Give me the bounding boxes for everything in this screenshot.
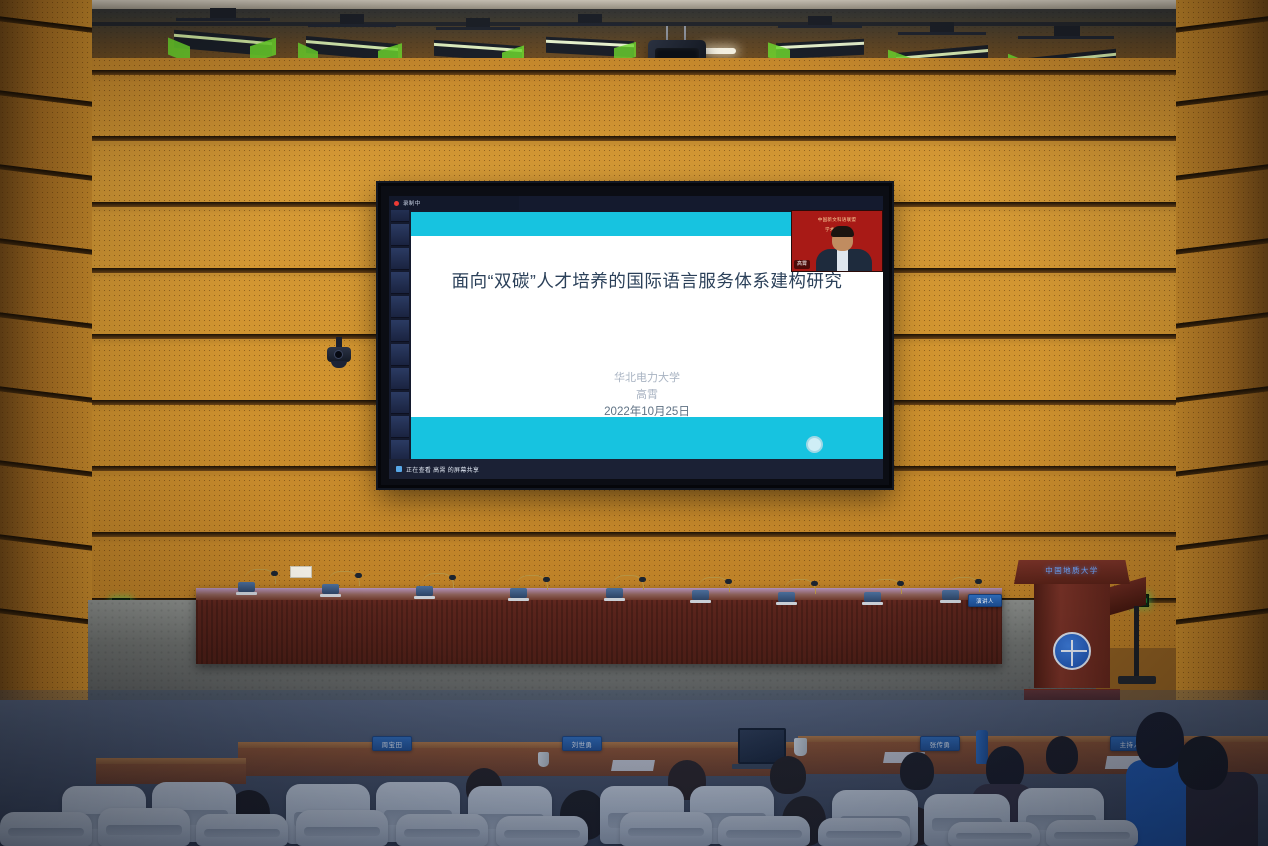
paper-cup xyxy=(538,752,549,767)
screen-share-bar: 正在查看 高霄 的屏幕共享 xyxy=(389,459,883,479)
audience-seat xyxy=(296,810,388,846)
presentation-screen[interactable]: 面向“双碳”人才培养的国际语言服务体系建构研究 华北电力大学 高霄 2022年1… xyxy=(378,183,892,488)
lectern: 中国地质大学 xyxy=(1022,560,1122,706)
gooseneck-microphone xyxy=(604,572,644,598)
camera-lens-icon xyxy=(334,350,343,359)
right-wall xyxy=(1176,0,1268,760)
audience-seat xyxy=(948,822,1040,846)
gooseneck-microphone xyxy=(414,570,454,596)
audience-seat xyxy=(0,812,92,846)
audience-seat xyxy=(718,816,810,846)
slide-decoration-dot xyxy=(806,436,823,453)
audience-seat xyxy=(620,812,712,846)
nameplate-label: 周宝田 xyxy=(382,739,403,749)
water-bottle xyxy=(976,730,988,764)
desk-nameplate: 周宝田 xyxy=(372,736,412,751)
thumbnail-speaker-label: 高霄 xyxy=(794,260,810,269)
wall-paper-card xyxy=(290,566,312,578)
gooseneck-microphone xyxy=(862,576,902,602)
nameplate-label: 张传勇 xyxy=(930,739,951,749)
audience-seat xyxy=(98,808,190,846)
university-emblem-icon xyxy=(1053,632,1091,670)
audience-head xyxy=(900,752,934,790)
gooseneck-microphone xyxy=(236,566,276,592)
slide-organization: 华北电力大学 xyxy=(411,370,883,387)
slide-presenter: 高霄 xyxy=(411,387,883,404)
audience-seat xyxy=(396,814,488,846)
desk-nameplate: 刘世勇 xyxy=(562,736,602,751)
gooseneck-microphone xyxy=(508,572,548,598)
recording-indicator: 录制中 xyxy=(389,196,519,210)
audience-seat xyxy=(818,818,910,846)
audience-seat xyxy=(496,816,588,846)
audience-desk xyxy=(96,758,246,784)
stage-nameplate: 演讲人 xyxy=(968,594,1002,607)
audience-seat xyxy=(196,814,288,846)
thumbnail-banner-line1: 中国新文科语联盟 xyxy=(792,216,882,225)
lecture-hall-scene: 面向“双碳”人才培养的国际语言服务体系建构研究 华北电力大学 高霄 2022年1… xyxy=(0,0,1268,846)
screen-share-label: 正在查看 高霄 的屏幕共享 xyxy=(406,465,479,474)
audience-head xyxy=(1178,736,1228,790)
gooseneck-microphone xyxy=(690,574,730,600)
record-dot-icon xyxy=(394,201,399,206)
paper-cup xyxy=(794,738,807,756)
speaker-video-thumbnail[interactable]: 中国新文科语联盟 学术研讨会 高霄 xyxy=(791,210,883,272)
desk-nameplate: 张传勇 xyxy=(920,736,960,751)
screen-share-icon xyxy=(396,466,402,472)
audience-head xyxy=(770,756,806,794)
left-wall xyxy=(0,0,92,760)
lectern-university-text: 中国地质大学 xyxy=(1014,565,1130,576)
video-gallery-strip[interactable] xyxy=(389,196,411,479)
audience-head xyxy=(1136,712,1184,768)
nameplate-label: 刘世勇 xyxy=(572,739,593,749)
audience-head xyxy=(1046,736,1078,774)
slide-date: 2022年10月25日 xyxy=(411,404,883,422)
gooseneck-microphone xyxy=(776,576,816,602)
gooseneck-microphone xyxy=(320,568,360,594)
audience-desk xyxy=(238,742,798,776)
documents xyxy=(611,760,655,771)
stage-light-fixture xyxy=(168,8,278,64)
recording-label: 录制中 xyxy=(403,199,421,207)
audience-seat xyxy=(1046,820,1138,846)
wall-mounted-camera xyxy=(322,337,356,371)
